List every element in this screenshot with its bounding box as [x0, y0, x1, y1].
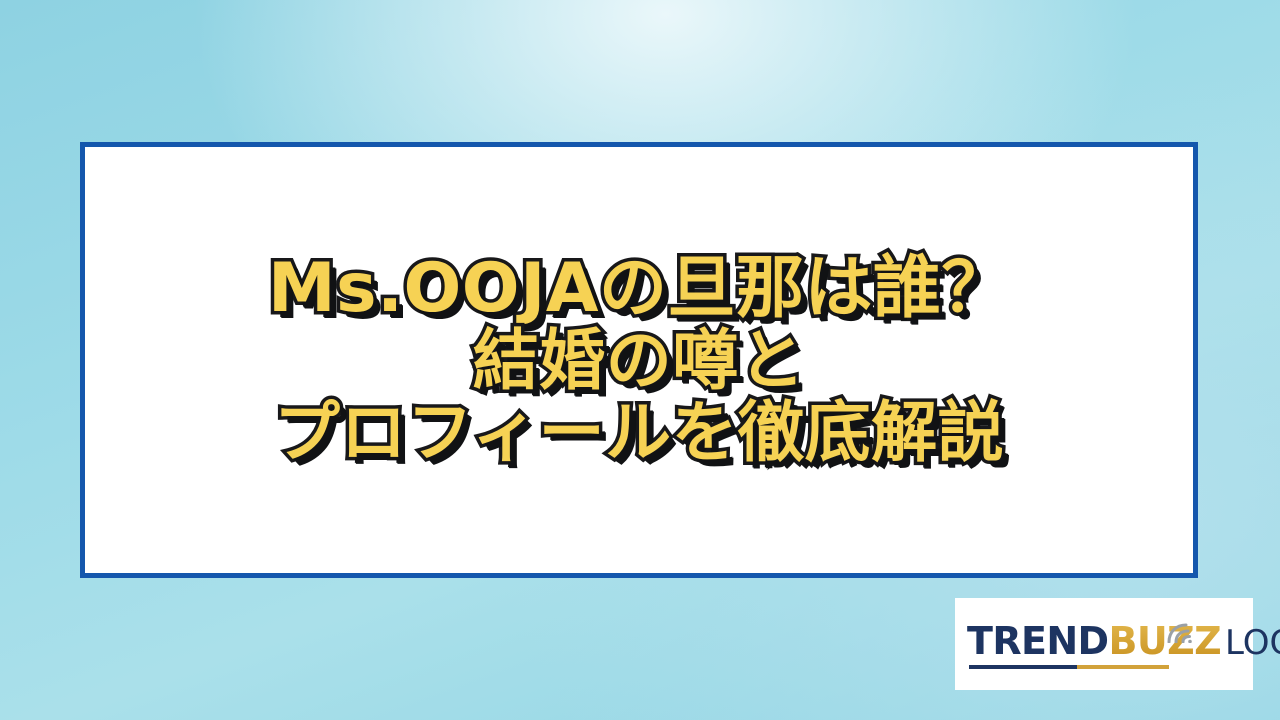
poster-canvas: Ms.OOJAの旦那は誰？ 結婚の噂と プロフィールを徹底解説 TREND BU…: [0, 0, 1280, 720]
headline-line-1: Ms.OOJAの旦那は誰？: [268, 252, 1010, 325]
logo-text-trend: TREND: [967, 619, 1109, 663]
logo-text-log: LOG: [1225, 623, 1280, 663]
headline-block: Ms.OOJAの旦那は誰？ 結婚の噂と プロフィールを徹底解説: [268, 252, 1010, 468]
logo-underline-navy: [969, 665, 1077, 669]
logo-underline-rule: [969, 665, 1169, 669]
signal-waves-icon: [1163, 613, 1209, 643]
site-logo-badge[interactable]: TREND BUZZ LOG: [955, 598, 1253, 690]
logo-wordmark: TREND BUZZ LOG: [967, 619, 1280, 663]
headline-line-2: 結婚の噂と: [268, 325, 1010, 396]
logo-inner: TREND BUZZ LOG: [967, 613, 1243, 675]
logo-underline-gold: [1077, 665, 1169, 669]
headline-line-3: プロフィールを徹底解説: [268, 397, 1010, 468]
title-card: Ms.OOJAの旦那は誰？ 結婚の噂と プロフィールを徹底解説: [80, 142, 1198, 578]
